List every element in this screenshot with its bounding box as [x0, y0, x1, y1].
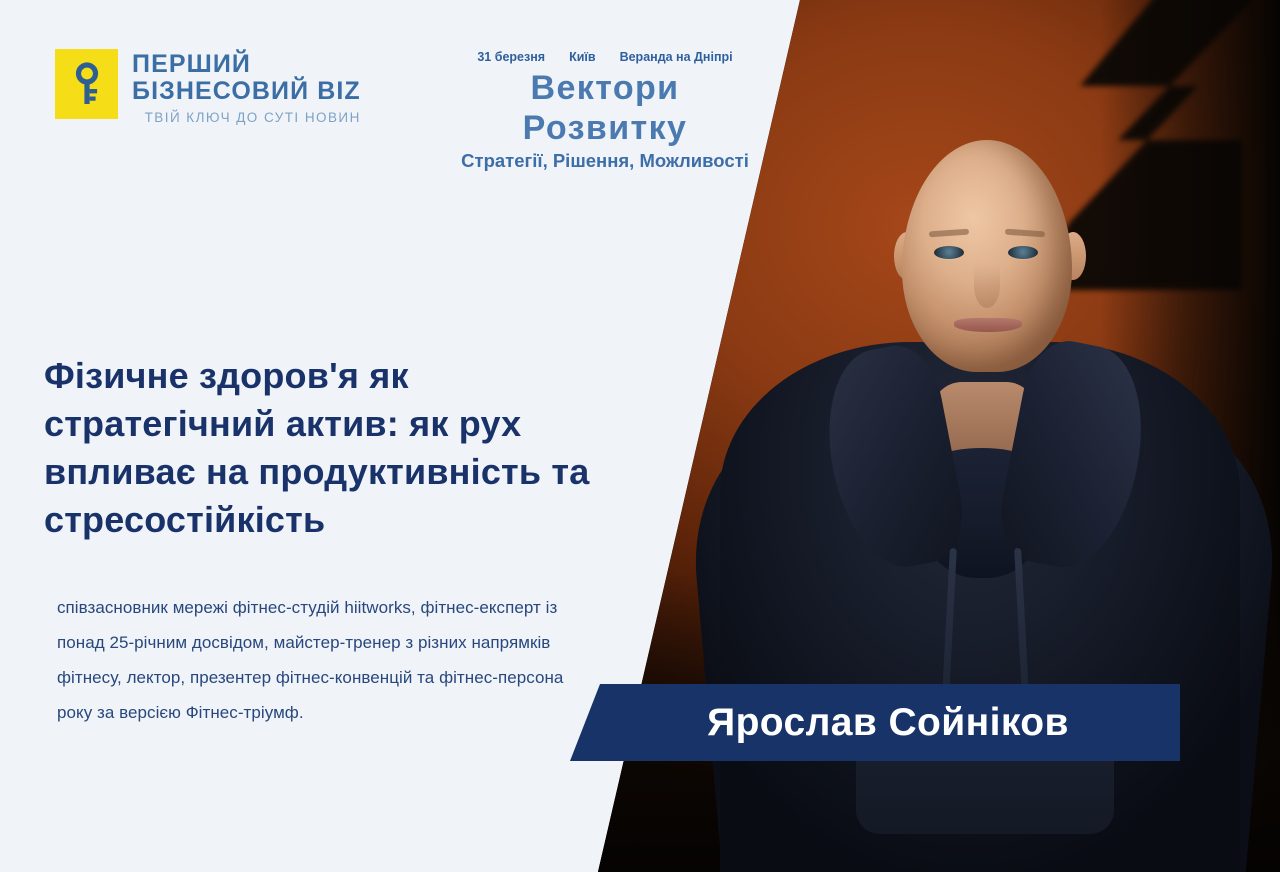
speaker-announcement-card: ПЕРШИЙ БІЗНЕСОВИЙ BIZ ТВІЙ КЛЮЧ ДО СУТІ … [0, 0, 1280, 872]
event-venue: Веранда на Дніпрі [620, 50, 733, 64]
event-date: 31 березня [477, 50, 545, 64]
logo-tagline: ТВІЙ КЛЮЧ ДО СУТІ НОВИН [132, 110, 361, 125]
portrait-head [902, 140, 1072, 372]
portrait-eye-left [934, 246, 964, 259]
key-icon [72, 62, 102, 106]
talk-headline: Фізичне здоров'я як стратегічний актив: … [44, 352, 624, 544]
portrait-mouth [954, 318, 1022, 332]
logo-mark-tile [55, 49, 118, 119]
event-header: 31 березня Київ Веранда на Дніпрі Вектор… [445, 50, 765, 173]
event-meta-row: 31 березня Київ Веранда на Дніпрі [445, 50, 765, 64]
event-title: Вектори Розвитку [445, 68, 765, 148]
speaker-name: Ярослав Сойніков [681, 701, 1069, 745]
speaker-bio: співзасновник мережі фітнес-студій hiitw… [57, 590, 567, 730]
portrait-nose [974, 264, 1000, 308]
logo-wordmark: ПЕРШИЙ БІЗНЕСОВИЙ BIZ ТВІЙ КЛЮЧ ДО СУТІ … [132, 49, 361, 125]
logo-line-2: БІЗНЕСОВИЙ BIZ [132, 78, 361, 105]
event-city: Київ [569, 50, 596, 64]
brand-logo[interactable]: ПЕРШИЙ БІЗНЕСОВИЙ BIZ ТВІЙ КЛЮЧ ДО СУТІ … [55, 49, 361, 125]
event-subtitle: Стратегії, Рішення, Можливості [445, 149, 765, 173]
portrait-eye-right [1008, 246, 1038, 259]
speaker-name-banner: Ярослав Сойніков [570, 684, 1180, 761]
logo-line-1: ПЕРШИЙ [132, 51, 361, 78]
